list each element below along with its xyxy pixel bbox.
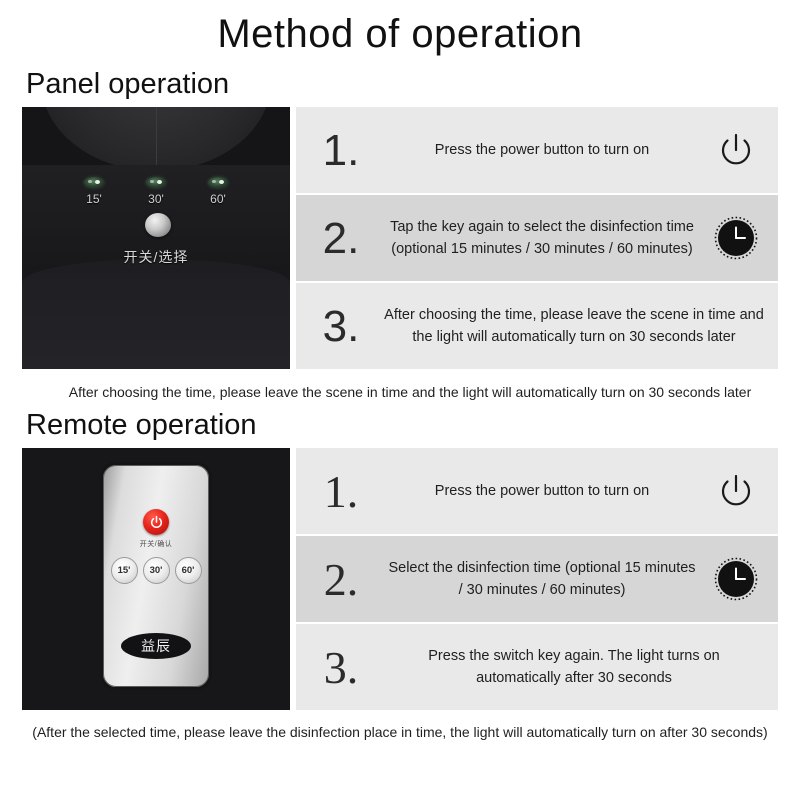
step-row: 3. After choosing the time, please leave… bbox=[296, 283, 778, 369]
step-text-line: / 30 minutes / 60 minutes) bbox=[384, 579, 700, 601]
step-number: 3. bbox=[302, 643, 380, 691]
remote-time-keys: 15' 30' 60' bbox=[103, 557, 209, 584]
step-number: 2. bbox=[302, 555, 380, 603]
remote-key-60[interactable]: 60' bbox=[175, 557, 202, 584]
step-number: 1. bbox=[302, 127, 380, 173]
power-icon bbox=[704, 469, 768, 513]
control-panel-photo: 15' 30' 60' 开关/选择 bbox=[22, 107, 290, 369]
panel-caption: After choosing the time, please leave th… bbox=[0, 383, 800, 403]
led-label-30: 30' bbox=[136, 192, 176, 206]
step-row: 3. Press the switch key again. The light… bbox=[296, 624, 778, 710]
page-title: Method of operation bbox=[0, 0, 800, 54]
step-row: 2. Tap the key again to select the disin… bbox=[296, 195, 778, 281]
section-heading-panel: Panel operation bbox=[0, 54, 800, 101]
step-text-line: automatically after 30 seconds bbox=[384, 667, 764, 689]
remote-control-photo: 开关/确认 15' 30' 60' 益辰 bbox=[22, 448, 290, 710]
panel-steps-list: 1. Press the power button to turn on 2. … bbox=[296, 107, 778, 369]
step-number: 2. bbox=[302, 215, 380, 261]
remote-power-button[interactable] bbox=[143, 509, 169, 535]
step-text: Tap the key again to select the disinfec… bbox=[380, 216, 704, 261]
step-text: Select the disinfection time (optional 1… bbox=[380, 557, 704, 602]
remote-key-15[interactable]: 15' bbox=[111, 557, 138, 584]
step-text-line: Press the switch key again. The light tu… bbox=[384, 645, 764, 667]
step-text: Press the power button to turn on bbox=[380, 139, 704, 161]
step-text: After choosing the time, please leave th… bbox=[380, 304, 768, 349]
step-text-line: Tap the key again to select the disinfec… bbox=[384, 216, 700, 238]
step-text-line: Select the disinfection time (optional 1… bbox=[384, 557, 700, 579]
led-label-15: 15' bbox=[74, 192, 114, 206]
remote-key-30[interactable]: 30' bbox=[143, 557, 170, 584]
device-lower-body bbox=[22, 259, 290, 369]
step-text-line: (optional 15 minutes / 30 minutes / 60 m… bbox=[384, 238, 700, 260]
step-number: 1. bbox=[302, 467, 380, 515]
led-label-60: 60' bbox=[198, 192, 238, 206]
step-text: Press the power button to turn on bbox=[380, 480, 704, 502]
power-icon bbox=[704, 128, 768, 172]
remote-steps-list: 1. Press the power button to turn on 2. … bbox=[296, 448, 778, 710]
step-text-line: After choosing the time, please leave th… bbox=[384, 304, 764, 326]
step-text: Press the switch key again. The light tu… bbox=[380, 645, 768, 690]
remote-operation-block: 开关/确认 15' 30' 60' 益辰 1. Press the power … bbox=[22, 448, 778, 710]
remote-caption: (After the selected time, please leave t… bbox=[0, 723, 800, 743]
clock-icon bbox=[704, 556, 768, 602]
remote-body: 开关/确认 15' 30' 60' 益辰 bbox=[100, 462, 212, 690]
device-seam bbox=[156, 107, 157, 169]
step-row: 1. Press the power button to turn on bbox=[296, 107, 778, 193]
step-row: 1. Press the power button to turn on bbox=[296, 448, 778, 534]
panel-button-label: 开关/选择 bbox=[22, 247, 290, 267]
section-heading-remote: Remote operation bbox=[0, 403, 800, 442]
remote-power-label: 开关/确认 bbox=[103, 539, 209, 549]
step-row: 2. Select the disinfection time (optiona… bbox=[296, 536, 778, 622]
clock-icon bbox=[704, 215, 768, 261]
remote-brand-logo: 益辰 bbox=[121, 633, 191, 659]
panel-operation-block: 15' 30' 60' 开关/选择 1. Press the power but… bbox=[22, 107, 778, 369]
step-text-line: the light will automatically turn on 30 … bbox=[384, 326, 764, 348]
step-number: 3. bbox=[302, 303, 380, 349]
